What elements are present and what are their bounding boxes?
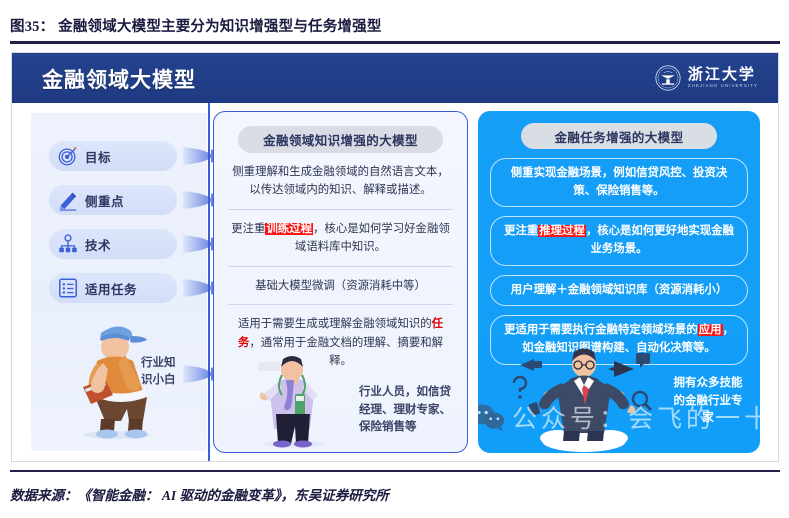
- network-icon: [57, 233, 79, 255]
- knowledge-goal-text: 侧重理解和生成金融领域的自然语言文本，以传达领域内的知识、解释或描述。: [228, 163, 453, 200]
- slide-title: 金融领域大模型: [42, 64, 196, 94]
- text-segment: 侧重理解和生成金融领域的自然语言文本，以传达领域内的知识、解释或描述。: [232, 166, 448, 196]
- knowledge-focus-text: 更注重训练过程，核心是如何学习好金融领域语料库中知识。: [228, 220, 453, 257]
- text-segment: 更适用于需要执行金融特定领域场景的: [504, 324, 698, 336]
- separator: [228, 266, 453, 267]
- left-criteria-panel: 目标 侧重点 技术: [31, 113, 207, 451]
- logo-chinese-name: 浙江大学: [688, 67, 758, 82]
- criteria-label: 目标: [85, 147, 111, 166]
- slide-container: 金融领域大模型 浙江大学 ZHEJIANG UNIVERSITY: [11, 52, 779, 462]
- task-panel-title: 金融任务增强的大模型: [521, 123, 717, 149]
- text-segment: 基础大模型微调（资源消耗中等）: [255, 280, 426, 292]
- highlighted-term: 训练过程: [265, 223, 313, 235]
- criteria-label: 侧重点: [85, 191, 124, 210]
- slide-body: 目标 侧重点 技术: [12, 103, 779, 462]
- criteria-label: 适用任务: [85, 279, 137, 298]
- criteria-item-focus[interactable]: 侧重点: [49, 185, 177, 215]
- figure-caption: 图35： 金融领域大模型主要分为知识增强型与任务增强型: [10, 10, 780, 40]
- zhejiang-university-logo: 浙江大学 ZHEJIANG UNIVERSITY: [655, 64, 758, 92]
- text-segment: 更注重: [231, 223, 265, 235]
- university-seal-icon: [655, 65, 681, 91]
- task-tech-box: 用户理解＋金融领域知识库（资源消耗小）: [490, 275, 748, 307]
- bottom-rule: [10, 470, 780, 472]
- task-enhanced-panel: 金融任务增强的大模型 侧重实现金融场景，例如信贷风控、投资决策、保险销售等。 更…: [478, 111, 760, 453]
- knowledge-tech-text: 基础大模型微调（资源消耗中等）: [228, 277, 453, 295]
- source-note: 数据来源：《智能金融： AI 驱动的金融变革》，东吴证券研究所: [10, 480, 780, 508]
- expert-label: 拥有众多技能的金融行业专家: [670, 375, 746, 427]
- text-segment: 用户理解＋金融领域知识库（资源消耗小）: [511, 284, 727, 296]
- target-icon: [57, 145, 79, 167]
- criteria-item-technology[interactable]: 技术: [49, 229, 177, 259]
- checklist-icon: [57, 277, 79, 299]
- highlighted-term: 推理过程: [538, 225, 586, 237]
- pencil-icon: [57, 189, 79, 211]
- top-rule: [10, 41, 780, 44]
- column-divider: [208, 103, 210, 462]
- criteria-item-goal[interactable]: 目标: [49, 141, 177, 171]
- criteria-item-tasks[interactable]: 适用任务: [49, 273, 177, 303]
- separator: [228, 209, 453, 210]
- task-focus-box: 更注重推理过程，核心是如何更好地实现金融业务场景。: [490, 216, 748, 265]
- criteria-label: 技术: [85, 235, 111, 254]
- knowledge-enhanced-panel: 金融领域知识增强的大模型 侧重理解和生成金融领域的自然语言文本，以传达领域内的知…: [213, 111, 468, 453]
- text-segment: ，核心是如何学习好金融领域语料库中知识。: [295, 223, 450, 253]
- separator: [228, 304, 453, 305]
- text-segment: 侧重实现金融场景，例如信贷风控、投资决策、保险销售等。: [511, 167, 727, 197]
- task-goal-box: 侧重实现金融场景，例如信贷风控、投资决策、保险销售等。: [490, 158, 748, 207]
- slide-header-bar: 金融领域大模型 浙江大学 ZHEJIANG UNIVERSITY: [12, 53, 779, 103]
- logo-english-name: ZHEJIANG UNIVERSITY: [688, 84, 758, 88]
- expert-person-illustration: [492, 343, 672, 453]
- highlighted-term: 应用: [698, 324, 723, 336]
- text-segment: ，核心是如何更好地实现金融业务场景。: [586, 225, 734, 255]
- professional-label: 行业人员，如信贷经理、理财专家、保险销售等: [359, 384, 457, 436]
- text-segment: 适用于需要生成或理解金融领域知识的: [238, 318, 432, 330]
- text-segment: 更注重: [504, 225, 538, 237]
- knowledge-panel-title: 金融领域知识增强的大模型: [238, 126, 443, 153]
- professional-person-illustration: [232, 352, 352, 448]
